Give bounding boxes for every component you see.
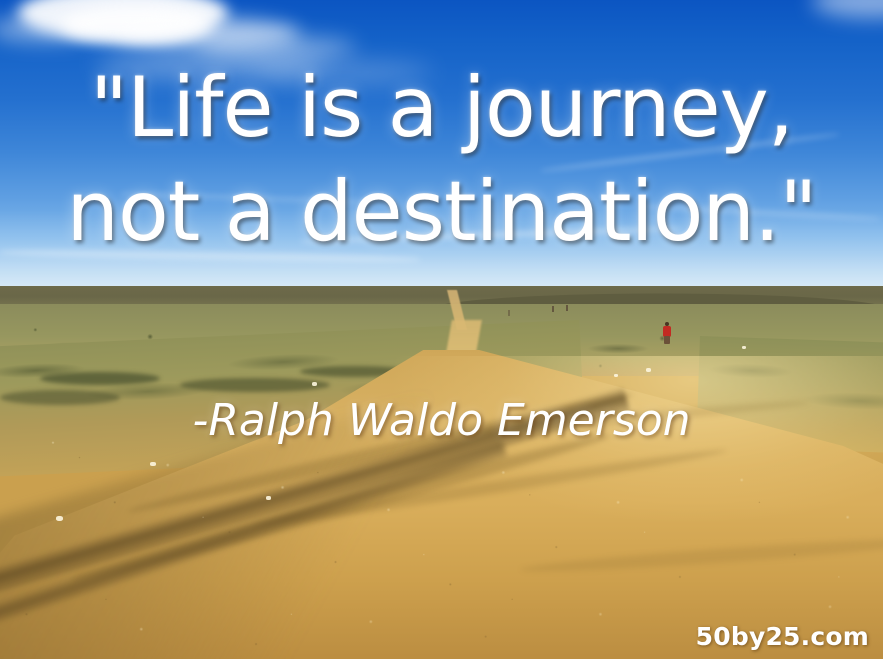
pebble [56,516,63,521]
pebble [150,462,156,466]
cloud-icon [812,0,883,18]
pebble [646,368,651,372]
distant-figure [552,306,554,312]
pebble [742,346,746,349]
distant-figure [566,305,568,311]
ground-landscape [0,286,883,659]
runner-legs [664,336,670,344]
distant-figure [508,310,510,316]
quote-poster: "Life is a journey, not a destination." … [0,0,883,659]
quote-text: "Life is a journey, not a destination." [0,56,883,264]
pebble [312,382,317,386]
pebble [266,496,271,500]
watermark-label: 50by25.com [696,622,869,651]
pebble [614,374,618,377]
runner-figure [662,322,672,344]
quote-attribution: -Ralph Waldo Emerson [0,395,883,446]
gravel-texture-fine [0,286,883,659]
